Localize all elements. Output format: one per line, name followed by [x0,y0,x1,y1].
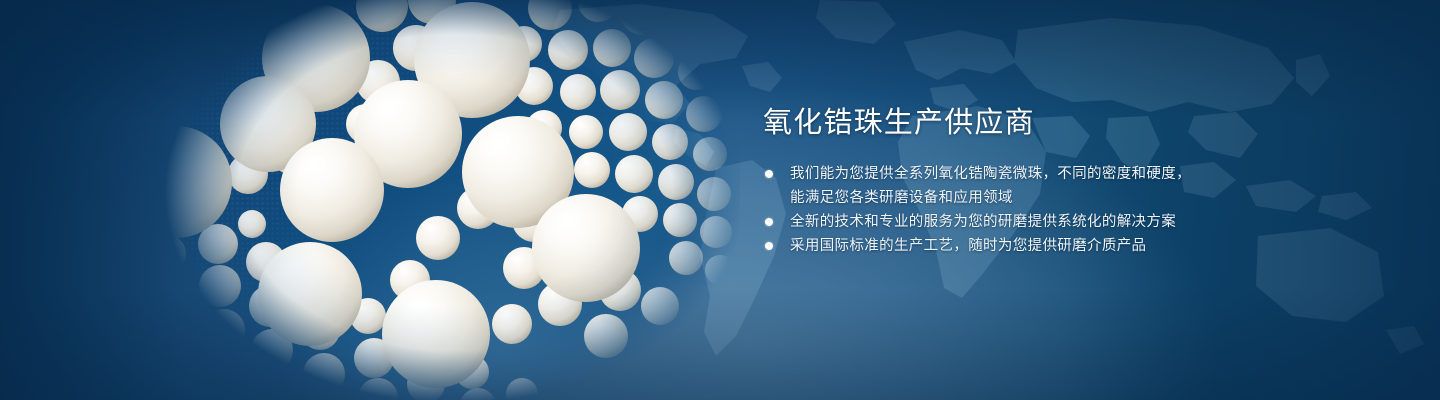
bullet-dot-icon [765,218,773,226]
zirconia-beads-photo [120,0,740,400]
banner-copy: 氧化锆珠生产供应商 我们能为您提供全系列氧化锆陶瓷微珠，不同的密度和硬度， 能满… [763,104,1213,258]
list-item: 采用国际标准的生产工艺，随时为您提供研磨介质产品 [763,234,1213,258]
bullet-dot-icon [765,170,773,178]
list-item-line2: 能满足您各类研磨设备和应用领域 [790,186,1213,210]
list-item-line1: 采用国际标准的生产工艺，随时为您提供研磨介质产品 [790,238,1146,254]
list-item-line1: 全新的技术和专业的服务为您的研磨提供系统化的解决方案 [790,214,1176,230]
page-title: 氧化锆珠生产供应商 [763,104,1213,142]
list-item: 我们能为您提供全系列氧化锆陶瓷微珠，不同的密度和硬度， 能满足您各类研磨设备和应… [763,162,1213,210]
bullet-dot-icon [765,242,773,250]
feature-list: 我们能为您提供全系列氧化锆陶瓷微珠，不同的密度和硬度， 能满足您各类研磨设备和应… [763,162,1213,258]
list-item: 全新的技术和专业的服务为您的研磨提供系统化的解决方案 [763,210,1213,234]
promo-banner: 氧化锆珠生产供应商 我们能为您提供全系列氧化锆陶瓷微珠，不同的密度和硬度， 能满… [0,0,1440,400]
list-item-line1: 我们能为您提供全系列氧化锆陶瓷微珠，不同的密度和硬度， [790,166,1191,182]
